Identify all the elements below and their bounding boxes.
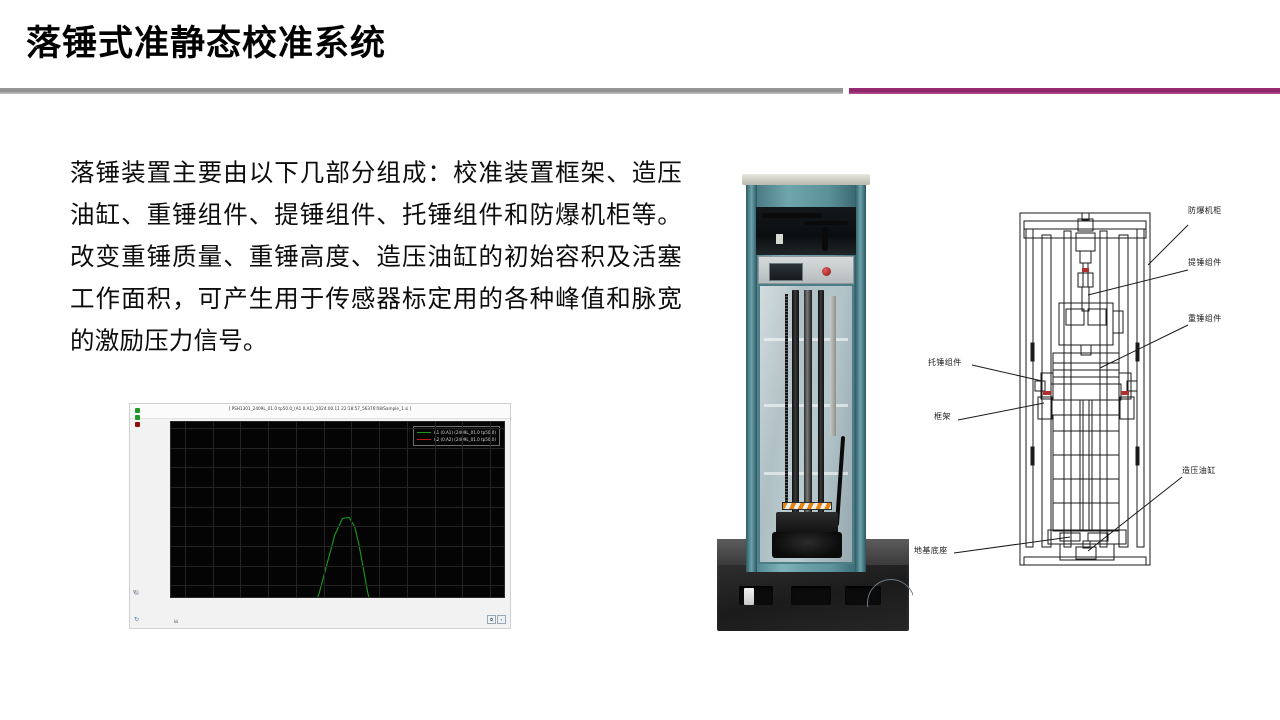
guide-rail-left bbox=[792, 290, 799, 516]
base-slot-2 bbox=[791, 586, 831, 605]
drawing-label-explosion-proof-cabinet: 防爆机柜 bbox=[1188, 205, 1222, 216]
header-rule-gray bbox=[0, 88, 843, 94]
panel-display-screen bbox=[769, 263, 803, 281]
drawing-label-weight-hammer-assembly: 重锤组件 bbox=[1188, 313, 1222, 324]
cabinet-top-cap bbox=[742, 174, 870, 185]
header-rule-purple bbox=[849, 88, 1280, 94]
drawing-label-frame: 框架 bbox=[934, 411, 951, 422]
cabinet-upper-equipment-bay bbox=[756, 207, 856, 255]
y-axis-tick-mark bbox=[170, 545, 171, 546]
legend-label-a1: A1 (0.A1) (2409L_01.0 tp50.0) bbox=[434, 430, 496, 435]
control-panel[interactable] bbox=[758, 256, 854, 284]
axis-corner-note: kit bbox=[174, 619, 178, 624]
legend-entry-a2: A2 (0.A2) (2409L_01.0 tp50.0) bbox=[417, 436, 496, 443]
cabinet-glass-door[interactable] bbox=[758, 284, 854, 564]
legend-label-a2: A2 (0.A2) (2409L_01.0 tp50.0) bbox=[434, 437, 496, 442]
bay-cable-3 bbox=[822, 227, 828, 251]
emergency-stop-button[interactable] bbox=[822, 267, 831, 276]
cabinet-top-band bbox=[746, 185, 866, 207]
y-axis-tick-mark bbox=[170, 585, 171, 586]
legend-swatch-a2 bbox=[417, 439, 431, 440]
legend-swatch-a1 bbox=[417, 432, 431, 433]
measuring-scale-strip bbox=[785, 294, 788, 502]
y-axis-tick-mark bbox=[170, 526, 171, 527]
y-axis-tick-mark bbox=[170, 427, 171, 428]
body-paragraph: 落锤装置主要由以下几部分组成：校准装置框架、造压油缸、重锤组件、提锤组件、托锤组… bbox=[70, 152, 682, 362]
bottom-mechanism bbox=[772, 532, 842, 558]
zoom-fit-icon[interactable]: ⧉ bbox=[487, 615, 496, 624]
drawing-label-hammer-lift-assembly: 提锤组件 bbox=[1188, 257, 1222, 268]
technical-drawing: 防爆机柜 提锤组件 重锤组件 托锤组件 框架 造压油缸 地基底座 bbox=[920, 185, 1280, 585]
chart-gridline-h bbox=[171, 467, 504, 468]
y-axis-tick-mark bbox=[170, 506, 171, 507]
chart-gridline-h bbox=[171, 566, 504, 567]
y-axis-tick-mark bbox=[170, 447, 171, 448]
lift-cylinder bbox=[830, 296, 836, 436]
hammer-drop-rod bbox=[804, 290, 812, 514]
led-green-1 bbox=[135, 408, 140, 413]
drawing-label-hammer-support-assembly: 托锤组件 bbox=[928, 357, 962, 368]
chart-window-title: [ PSH1301_2409L_01.0 tp50.0_(A1 0.A1)_20… bbox=[229, 406, 412, 411]
chart-view-controls[interactable]: ⧉ ▪ bbox=[487, 615, 506, 624]
page-title: 落锤式准静态校准系统 bbox=[26, 25, 386, 64]
chart-title-bar: [ PSH1301_2409L_01.0 tp50.0_(A1 0.A1)_20… bbox=[130, 404, 510, 419]
guide-rail-right bbox=[818, 290, 824, 516]
photo-cabinet bbox=[746, 180, 866, 572]
cabinet-post-right bbox=[855, 185, 866, 572]
base-hose-coil bbox=[858, 570, 913, 637]
refresh-icon[interactable]: ↻ bbox=[134, 616, 139, 623]
bay-cable-1 bbox=[762, 213, 822, 218]
machine-photograph bbox=[713, 172, 913, 637]
measurement-chart-screenshot: [ PSH1301_2409L_01.0 tp50.0_(A1 0.A1)_20… bbox=[129, 403, 511, 629]
chart-gridline-h bbox=[171, 448, 504, 449]
y-axis-tick-mark bbox=[170, 467, 171, 468]
slide-root: 落锤式准静态校准系统 落锤装置主要由以下几部分组成：校准装置框架、造压油缸、重锤… bbox=[0, 0, 1280, 720]
chart-gridline-h bbox=[171, 507, 504, 508]
led-red-1 bbox=[135, 422, 140, 427]
chart-plot-area[interactable]: A1 (0.A1) (2409L_01.0 tp50.0) A2 (0.A2) … bbox=[170, 421, 505, 598]
base-white-object bbox=[744, 588, 754, 605]
bay-cable-2 bbox=[804, 221, 848, 225]
chart-gridline-h bbox=[171, 585, 504, 586]
y-axis-tick-mark bbox=[170, 486, 171, 487]
chart-gridline-h bbox=[171, 487, 504, 488]
channel-status-leds bbox=[135, 408, 142, 429]
chart-gridline-h bbox=[171, 526, 504, 527]
chart-legend: A1 (0.A1) (2409L_01.0 tp50.0) A2 (0.A2) … bbox=[413, 426, 500, 446]
chart-gridline-h bbox=[171, 546, 504, 547]
led-green-2 bbox=[135, 415, 140, 420]
drawing-label-pressure-cylinder: 造压油缸 bbox=[1182, 465, 1216, 476]
anvil-block bbox=[776, 512, 838, 534]
bay-white-module bbox=[776, 234, 783, 244]
hazard-stripe-plate bbox=[782, 502, 832, 510]
y-axis-name: V bbox=[133, 589, 136, 594]
drawing-vector bbox=[920, 185, 1280, 585]
chart-gridline-h bbox=[171, 428, 504, 429]
y-axis-tick-mark bbox=[170, 565, 171, 566]
drawing-label-foundation-base: 地基底座 bbox=[914, 545, 948, 556]
settings-icon[interactable]: ▪ bbox=[497, 615, 506, 624]
legend-entry-a1: A1 (0.A1) (2409L_01.0 tp50.0) bbox=[417, 429, 496, 436]
